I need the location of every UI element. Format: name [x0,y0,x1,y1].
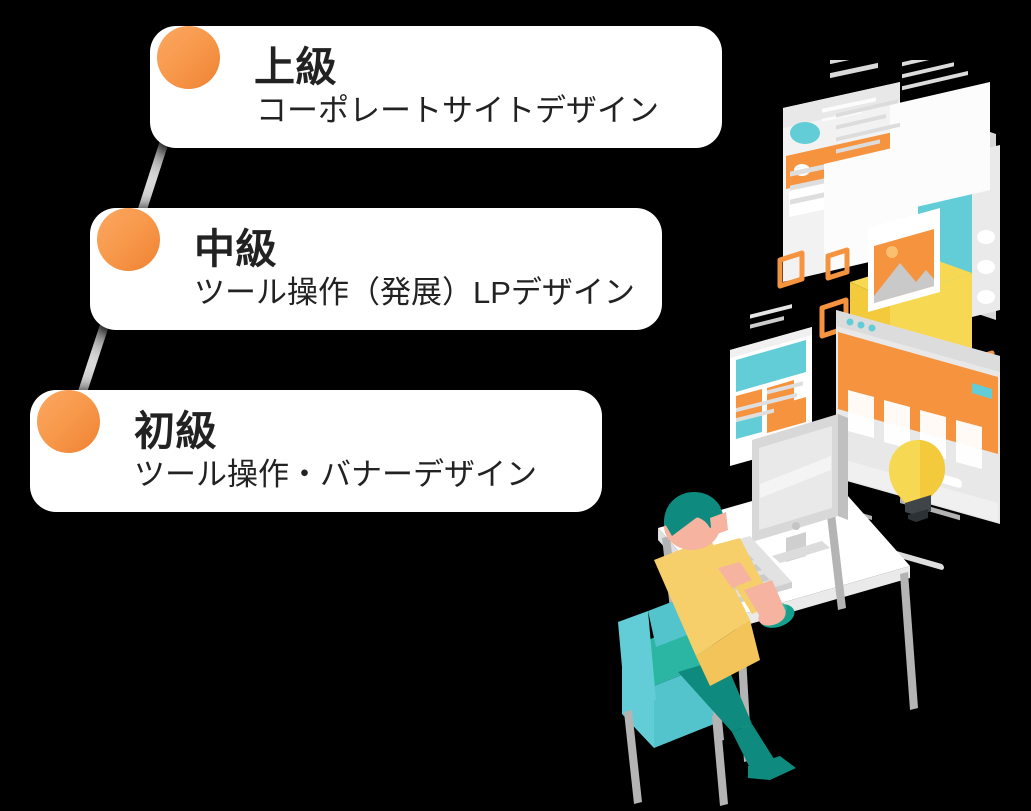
step-dot-beginner-icon [37,390,100,453]
designer-at-desk-illustration [600,60,1031,811]
level-card-beginner-subtitle: ツール操作・バナーデザイン [134,457,602,493]
level-card-beginner-title: 初級 [134,409,602,455]
level-card-beginner[interactable]: 初級 ツール操作・バナーデザイン [30,390,602,512]
step-dot-advanced-icon [157,26,220,89]
step-dot-intermediate-icon [97,208,160,271]
level-card-intermediate-text: 中級 ツール操作（発展）LPデザイン [90,208,662,330]
level-card-beginner-text: 初級 ツール操作・バナーデザイン [30,390,602,512]
diagram-canvas: 上級 コーポレートサイトデザイン 中級 ツール操作（発展）LPデザイン 初級 ツ… [0,0,1031,811]
level-card-intermediate-title: 中級 [194,227,662,273]
level-card-intermediate-subtitle: ツール操作（発展）LPデザイン [194,275,662,311]
level-card-intermediate[interactable]: 中級 ツール操作（発展）LPデザイン [90,208,662,330]
